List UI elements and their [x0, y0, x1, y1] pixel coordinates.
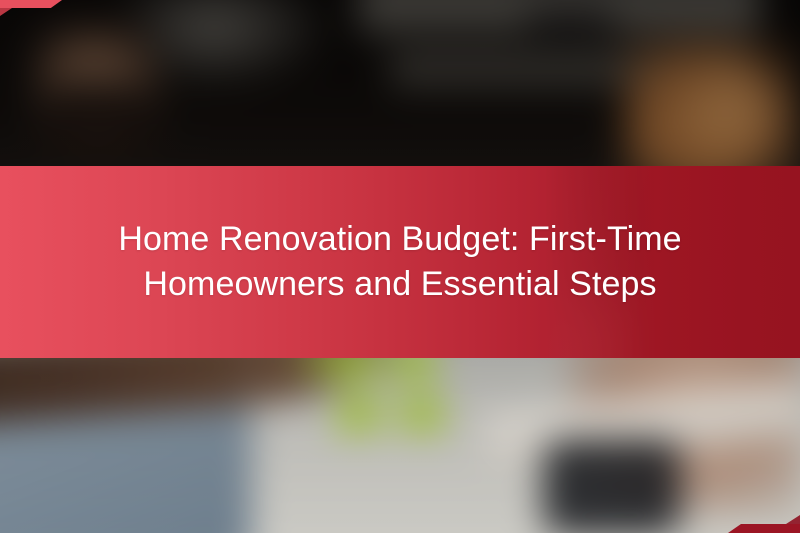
hero-banner-image: Home Renovation Budget: First-Time Homeo…	[0, 0, 800, 533]
page-title: Home Renovation Budget: First-Time Homeo…	[118, 217, 681, 307]
title-banner: Home Renovation Budget: First-Time Homeo…	[0, 166, 800, 358]
page-title-line-2: Homeowners and Essential Steps	[143, 265, 656, 303]
page-title-line-1: Home Renovation Budget: First-Time	[118, 220, 681, 258]
